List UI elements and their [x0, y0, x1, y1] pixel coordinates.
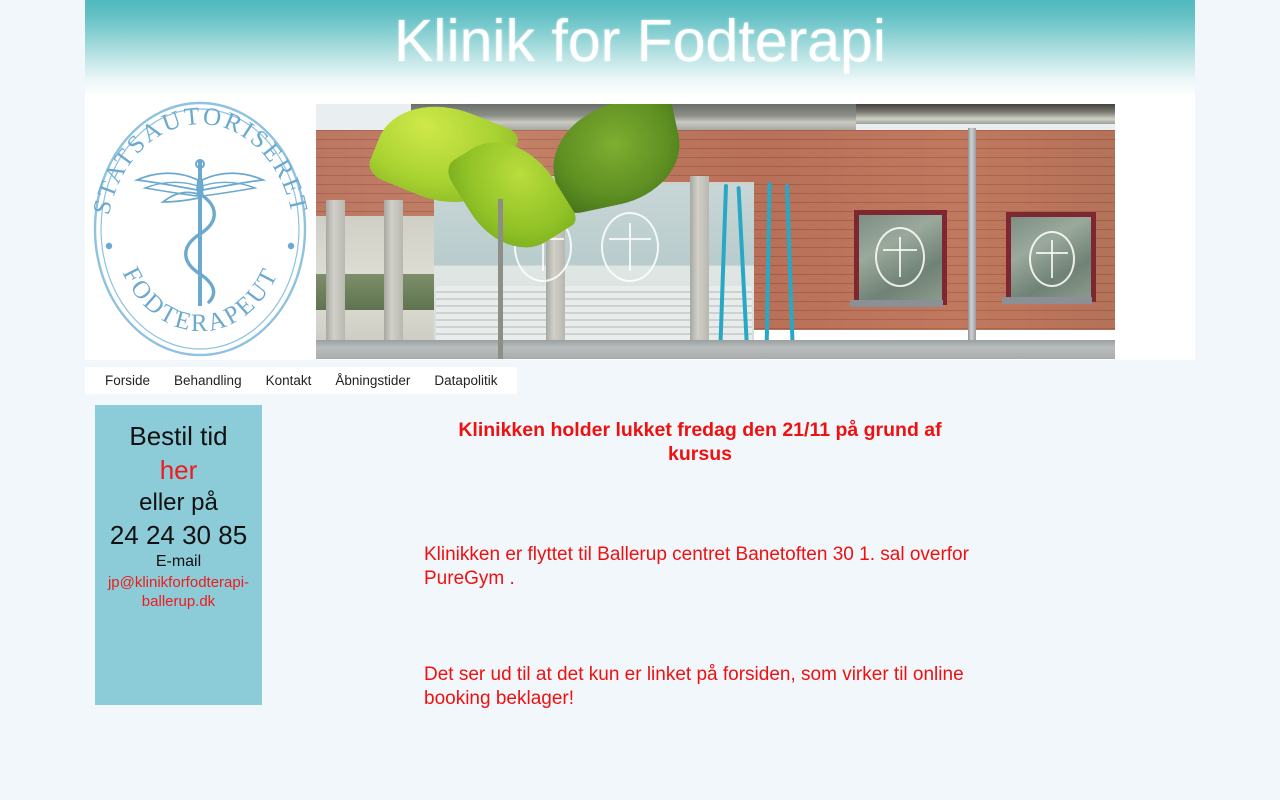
site-title: Klinik for Fodterapi — [85, 6, 1195, 76]
main-content: Klinikken holder lukket fredag den 21/11… — [424, 418, 976, 711]
clinic-email-link[interactable]: jp@klinikforfodterapi-ballerup.dk — [95, 573, 262, 611]
statsautoriseret-fodterapeut-logo: STATSAUTORISERET FODTERAPEUT — [85, 98, 316, 358]
clinic-storefront-photo — [316, 104, 1115, 359]
main-navigation: Forside Behandling Kontakt Åbningstider … — [85, 367, 517, 394]
nav-item-behandling[interactable]: Behandling — [162, 367, 254, 394]
booking-or-by-label: eller på — [95, 487, 262, 519]
booking-heading: Bestil tid — [95, 419, 262, 453]
clinic-phone-number: 24 24 30 85 — [95, 519, 262, 551]
nav-item-abningstider[interactable]: Åbningstider — [323, 367, 422, 394]
booking-link-her[interactable]: her — [95, 453, 262, 487]
nav-item-kontakt[interactable]: Kontakt — [254, 367, 324, 394]
booking-link-note-paragraph: Det ser ud til at det kun er linket på f… — [424, 663, 976, 711]
site-header-banner: Klinik for Fodterapi — [85, 0, 1195, 96]
email-label: E-mail — [95, 551, 262, 573]
closure-notice-heading: Klinikken holder lukket fredag den 21/11… — [424, 418, 976, 466]
nav-item-datapolitik[interactable]: Datapolitik — [422, 367, 509, 394]
page-root: Klinik for Fodterapi STATSAUTORISERET FO… — [0, 0, 1280, 800]
relocation-paragraph: Klinikken er flyttet til Ballerup centre… — [424, 543, 976, 591]
nav-item-forside[interactable]: Forside — [93, 367, 162, 394]
masthead: STATSAUTORISERET FODTERAPEUT — [85, 96, 1195, 360]
booking-sidebar: Bestil tid her eller på 24 24 30 85 E-ma… — [95, 405, 262, 705]
